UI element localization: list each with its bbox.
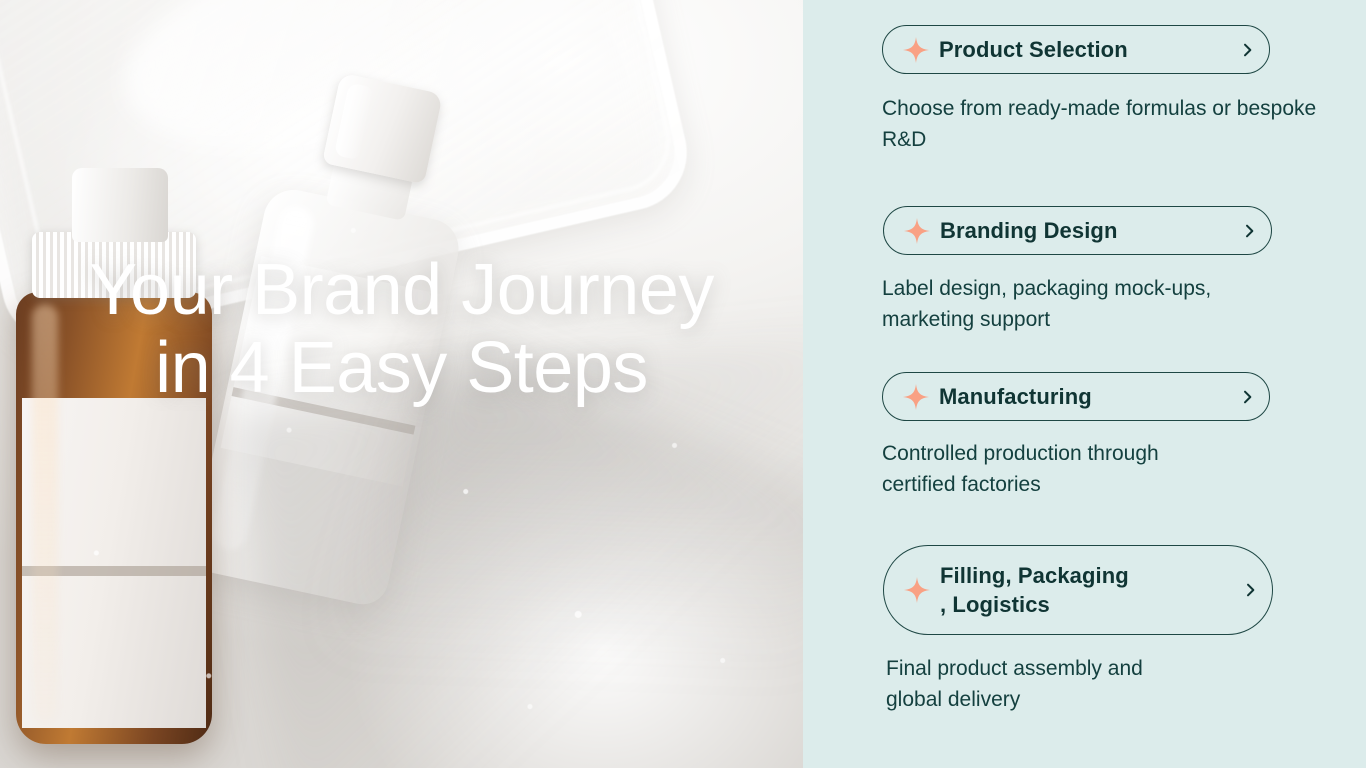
chevron-right-icon[interactable] <box>1239 389 1255 405</box>
chevron-right-icon[interactable] <box>1239 42 1255 58</box>
step-item-3: Manufacturing Controlled production thro… <box>803 372 1366 500</box>
step-label: Filling, Packaging , Logistics <box>940 561 1234 619</box>
step-item-1: Product Selection Choose from ready-made… <box>803 25 1366 155</box>
step-pill-manufacturing[interactable]: Manufacturing <box>882 372 1270 421</box>
sparkle-star-icon <box>903 37 929 63</box>
step-pill-product-selection[interactable]: Product Selection <box>882 25 1270 74</box>
step-label: Product Selection <box>939 35 1231 64</box>
step-item-4: Filling, Packaging , Logistics Final pro… <box>803 545 1366 715</box>
step-item-2: Branding Design Label design, packaging … <box>803 206 1366 335</box>
step-pill-branding-design[interactable]: Branding Design <box>883 206 1272 255</box>
hero-section: Your Brand Journey in 4 Easy Steps <box>0 0 803 768</box>
page-root: Your Brand Journey in 4 Easy Steps Produ… <box>0 0 1366 768</box>
step-pill-filling-packaging-logistics[interactable]: Filling, Packaging , Logistics <box>883 545 1273 635</box>
step-label: Manufacturing <box>939 382 1231 411</box>
step-description: Final product assembly and global delive… <box>886 653 1338 715</box>
step-description: Controlled production through certified … <box>882 438 1334 500</box>
step-description: Choose from ready-made formulas or bespo… <box>882 93 1334 155</box>
step-label: Branding Design <box>940 216 1233 245</box>
hero-title: Your Brand Journey in 4 Easy Steps <box>0 252 803 408</box>
chevron-right-icon[interactable] <box>1241 223 1257 239</box>
sparkle-star-icon <box>904 577 930 603</box>
sparkle-star-icon <box>903 384 929 410</box>
step-description: Label design, packaging mock-ups, market… <box>882 273 1334 335</box>
sparkle-star-icon <box>904 218 930 244</box>
chevron-right-icon[interactable] <box>1242 582 1258 598</box>
steps-panel: Product Selection Choose from ready-made… <box>803 0 1366 768</box>
